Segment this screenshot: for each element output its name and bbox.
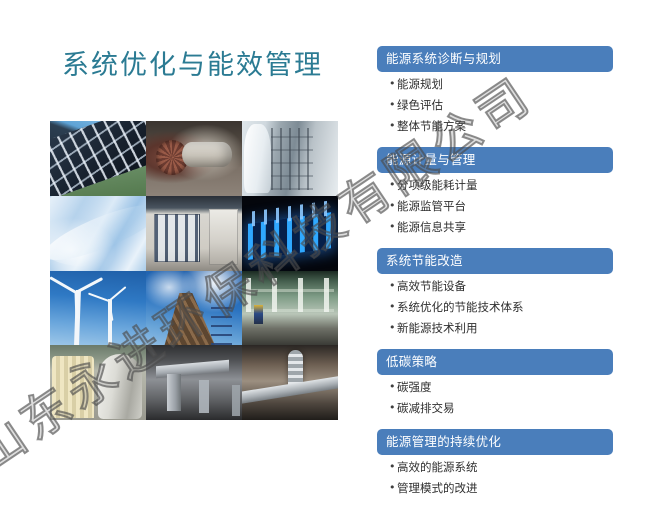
bullet-text: 能源信息共享 [397, 219, 466, 235]
section-title: 能源计量与管理 [386, 154, 476, 167]
bullet-text: 整体节能方案 [397, 118, 466, 134]
photo-art-storage [50, 345, 146, 420]
photo-wind-turbines [50, 271, 146, 346]
section-bullet-list: • 高效的能源系统 • 管理模式的改进 [377, 455, 613, 506]
section-bullet-list: • 碳强度 • 碳减排交易 [377, 375, 613, 426]
bullet-text: 能源规划 [397, 76, 443, 92]
photo-art-wind [50, 271, 146, 346]
bullet-text: 碳减排交易 [397, 400, 455, 416]
bullet-marker-icon: • [389, 400, 397, 416]
section-energy-metering-management: 能源计量与管理 • 分项级能耗计量 • 能源监管平台 • 能源信息共享 [377, 147, 613, 245]
section-header-bar[interactable]: 系统节能改造 [377, 248, 613, 274]
bullet-text: 绿色评估 [397, 97, 443, 113]
photo-plant-room-ducts [146, 345, 242, 420]
photo-art-led [242, 196, 338, 271]
section-bullet-list: • 高效节能设备 • 系统优化的节能技术体系 • 新能源技术利用 [377, 274, 613, 346]
bullet-marker-icon: • [389, 299, 397, 315]
bullet-text: 管理模式的改进 [397, 480, 478, 496]
bullet-marker-icon: • [389, 278, 397, 294]
photo-equipment-machine-room [146, 196, 242, 271]
photo-storage-tanks-piping [242, 121, 338, 196]
bullet-marker-icon: • [389, 118, 397, 134]
content-sections: 能源系统诊断与规划 • 能源规划 • 绿色评估 • 整体节能方案 能源计量与管 [377, 46, 613, 509]
bullet-marker-icon: • [389, 219, 397, 235]
bullet-text: 碳强度 [397, 379, 432, 395]
photo-art-solar [50, 121, 146, 196]
list-item: • 绿色评估 [377, 97, 613, 113]
bullet-text: 高效的能源系统 [397, 459, 478, 475]
bullet-marker-icon: • [389, 76, 397, 92]
photo-blue-led-array [242, 196, 338, 271]
photo-art-abstract [50, 196, 146, 271]
photo-art-ducts [146, 345, 242, 420]
section-system-energy-saving-retrofit: 系统节能改造 • 高效节能设备 • 系统优化的节能技术体系 • 新能源技术利用 [377, 248, 613, 346]
photo-art-ceiling [242, 345, 338, 420]
section-title: 系统节能改造 [386, 255, 463, 268]
list-item: • 管理模式的改进 [377, 480, 613, 496]
list-item: • 能源监管平台 [377, 198, 613, 214]
photo-art-boiler [146, 121, 242, 196]
section-continuous-optimization: 能源管理的持续优化 • 高效的能源系统 • 管理模式的改进 [377, 429, 613, 506]
bullet-marker-icon: • [389, 198, 397, 214]
page-title: 系统优化与能效管理 [62, 48, 323, 84]
turbine-blade [108, 286, 126, 302]
list-item: • 能源信息共享 [377, 219, 613, 235]
bullet-text: 能源监管平台 [397, 198, 466, 214]
bullet-marker-icon: • [389, 480, 397, 496]
section-header-bar[interactable]: 能源计量与管理 [377, 147, 613, 173]
section-header-bar[interactable]: 低碳策略 [377, 349, 613, 375]
photo-art-structure [146, 271, 242, 346]
section-header-bar[interactable]: 能源管理的持续优化 [377, 429, 613, 455]
photo-ceiling-ductwork [242, 345, 338, 420]
photo-industrial-structure-sky [146, 271, 242, 346]
list-item: • 能源规划 [377, 76, 613, 92]
section-bullet-list: • 能源规划 • 绿色评估 • 整体节能方案 [377, 72, 613, 144]
bullet-marker-icon: • [389, 177, 397, 193]
bullet-marker-icon: • [389, 97, 397, 113]
list-item: • 高效的能源系统 [377, 459, 613, 475]
section-energy-diagnosis-planning: 能源系统诊断与规划 • 能源规划 • 绿色评估 • 整体节能方案 [377, 46, 613, 144]
section-low-carbon-strategy: 低碳策略 • 碳强度 • 碳减排交易 [377, 349, 613, 426]
list-item: • 系统优化的节能技术体系 [377, 299, 613, 315]
turbine-blade [88, 292, 109, 301]
photo-storage-tank-pair [50, 345, 146, 420]
list-item: • 碳强度 [377, 379, 613, 395]
photo-art-tanks [242, 121, 338, 196]
list-item: • 碳减排交易 [377, 400, 613, 416]
section-header-bar[interactable]: 能源系统诊断与规划 [377, 46, 613, 72]
bullet-text: 分项级能耗计量 [397, 177, 478, 193]
photo-art-machineroom [146, 196, 242, 271]
list-item: • 整体节能方案 [377, 118, 613, 134]
photo-solar-panel-array [50, 121, 146, 196]
section-title: 能源管理的持续优化 [386, 436, 501, 449]
bullet-text: 新能源技术利用 [397, 320, 478, 336]
photo-industrial-boiler [146, 121, 242, 196]
photo-collage [50, 121, 338, 420]
list-item: • 高效节能设备 [377, 278, 613, 294]
turbine-blade [74, 292, 78, 318]
section-bullet-list: • 分项级能耗计量 • 能源监管平台 • 能源信息共享 [377, 173, 613, 245]
section-title: 能源系统诊断与规划 [386, 53, 501, 66]
bullet-text: 高效节能设备 [397, 278, 466, 294]
list-item: • 分项级能耗计量 [377, 177, 613, 193]
bullet-marker-icon: • [389, 320, 397, 336]
bullet-text: 系统优化的节能技术体系 [397, 299, 524, 315]
turbine-blade [75, 277, 103, 294]
photo-art-factory [242, 271, 338, 346]
turbine-blade [108, 300, 113, 320]
photo-blue-abstract-curves [50, 196, 146, 271]
list-item: • 新能源技术利用 [377, 320, 613, 336]
turbine-blade [50, 276, 77, 294]
bullet-marker-icon: • [389, 459, 397, 475]
section-title: 低碳策略 [386, 356, 437, 369]
photo-factory-interior [242, 271, 338, 346]
bullet-marker-icon: • [389, 379, 397, 395]
slide-canvas: 系统优化与能效管理 能源系统诊断与规划 [0, 0, 668, 499]
